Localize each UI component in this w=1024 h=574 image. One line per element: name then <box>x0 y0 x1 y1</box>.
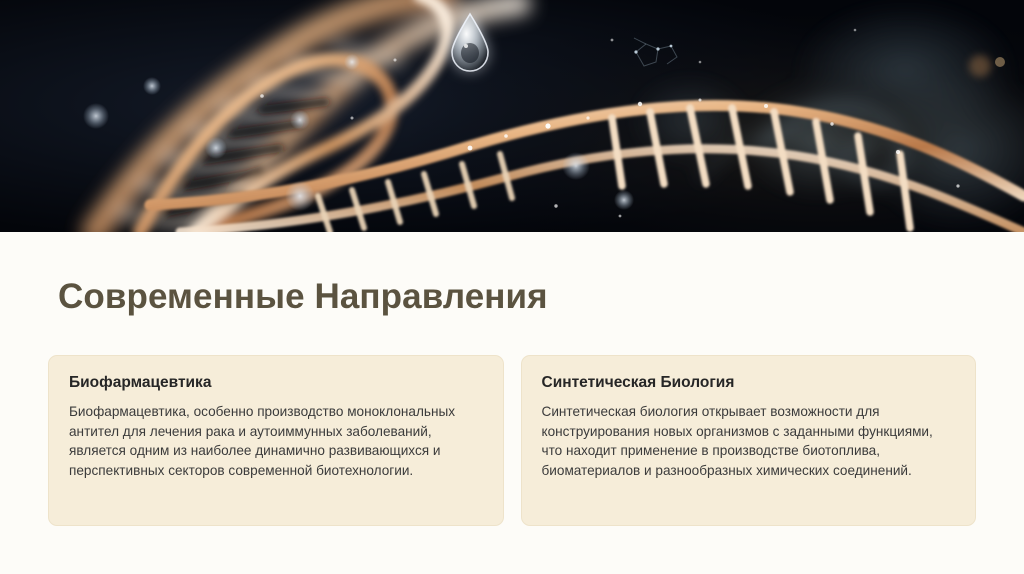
topic-card-biopharmaceutics: Биофармацевтика Биофармацевтика, особенн… <box>48 355 504 526</box>
card-title: Биофармацевтика <box>69 373 483 393</box>
card-title: Синтетическая Биология <box>542 373 956 393</box>
topic-card-synthetic-biology: Синтетическая Биология Синтетическая био… <box>521 355 977 526</box>
slide-root: Современные Направления Биофармацевтика … <box>0 0 1024 574</box>
hero-banner-dna <box>0 0 1024 232</box>
card-body-text: Биофармацевтика, особенно производство м… <box>69 402 483 480</box>
topic-card-list: Биофармацевтика Биофармацевтика, особенн… <box>48 355 976 526</box>
page-title: Современные Направления <box>58 276 548 318</box>
dna-helix-illustration <box>0 0 1024 232</box>
card-body-text: Синтетическая биология открывает возможн… <box>542 402 956 480</box>
